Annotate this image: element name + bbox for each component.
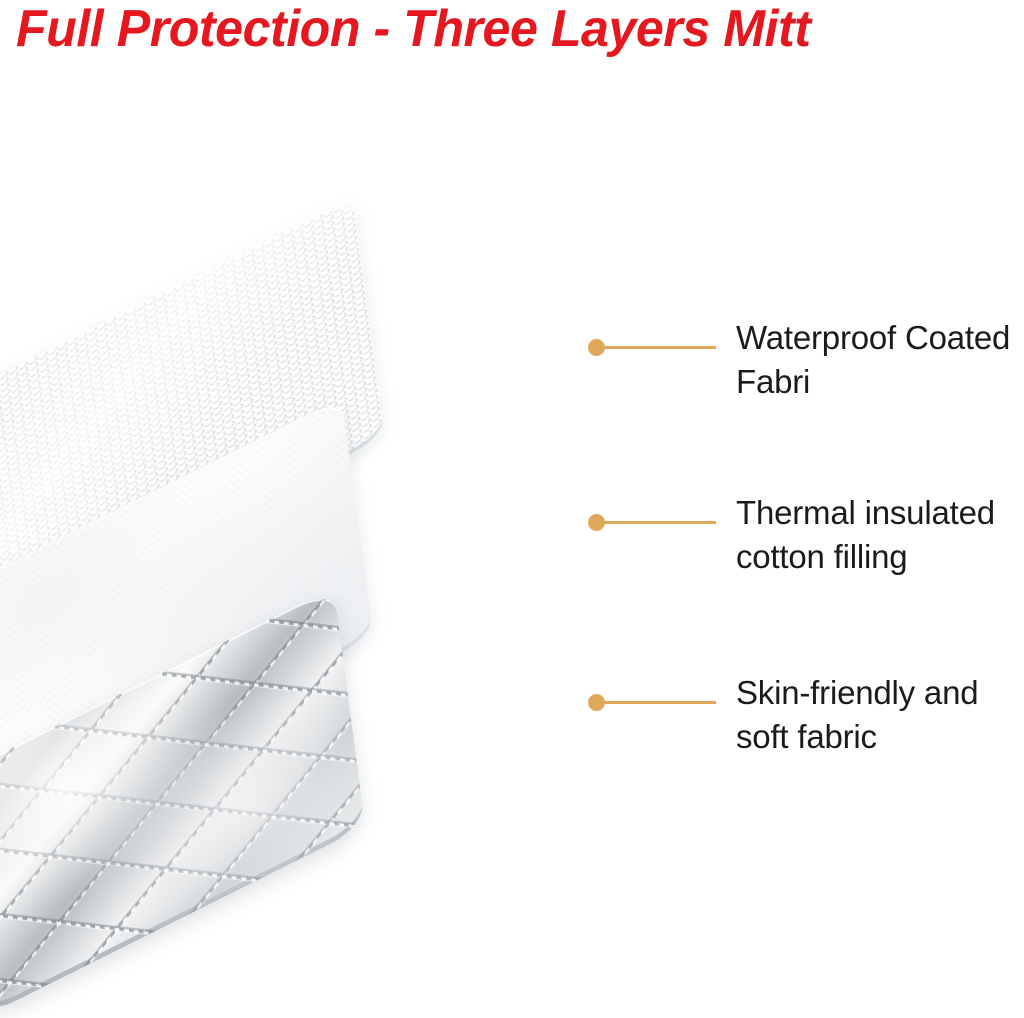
page-title: Full Protection - Three Layers Mitt <box>16 0 973 64</box>
callout-label-line-1: Waterproof Coated <box>736 316 1024 360</box>
quilt-stitch-lines <box>0 588 365 1018</box>
silver-quilted-surface <box>0 588 365 1018</box>
callout-leader-line <box>602 701 716 704</box>
quilt-puff-shading <box>0 588 365 1018</box>
callout-label-line-1: Skin-friendly and <box>736 671 1024 715</box>
diamond-quilt-pattern <box>0 588 365 1018</box>
callout-label-thermal: Thermal insulated cotton filling <box>736 491 1024 579</box>
callout-label-waterproof: Waterproof Coated Fabri <box>736 316 1024 404</box>
callout-leader-line <box>602 346 716 349</box>
callout-label-line-1: Thermal insulated <box>736 491 1024 535</box>
product-layer-skin-friendly-soft-fabric <box>0 588 372 1018</box>
callout-label-line-2: cotton filling <box>736 535 1024 579</box>
exploded-layers-illustration <box>0 150 600 850</box>
callout-label-line-2: Fabri <box>736 360 1024 404</box>
callout-leader-line <box>602 521 716 524</box>
callout-label-line-2: soft fabric <box>736 715 1024 759</box>
callout-label-skin-friendly: Skin-friendly and soft fabric <box>736 671 1024 759</box>
